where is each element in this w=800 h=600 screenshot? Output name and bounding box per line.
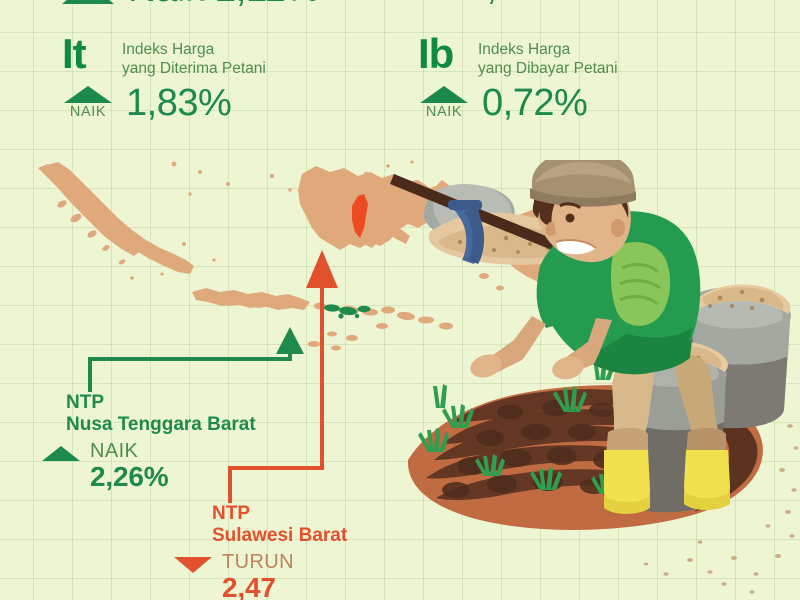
callout-ntb-title-line2: Nusa Tenggara Barat [66,414,256,436]
triangle-up-icon [64,86,112,103]
cut-stat-left-text: Naik 1,11% [128,0,320,6]
ib-code: Ib [418,36,464,72]
cut-stat-left: Naik 1,11% [62,0,320,6]
callout-ntb-title-line1: NTP [66,392,256,414]
stat-block-it: Naik 1,11% It Indeks Harga yang Diterima… [62,0,266,122]
ib-description-line2: yang Dibayar Petani [478,60,618,79]
callout-ntb-direction [42,440,80,461]
ib-description-line1: Indeks Harga [478,41,618,60]
callout-sulbar-direction [174,551,212,573]
it-direction: NAIK [62,86,114,120]
triangle-up-icon [42,446,80,461]
cut-stat-right: NAIK 1,59% [418,0,573,4]
callout-sulbar-title-line2: Sulawesi Barat [212,525,347,547]
ib-header-row: Ib Indeks Harga yang Dibayar Petani [418,36,618,78]
triangle-up-icon [420,86,468,103]
it-description-line1: Indeks Harga [122,41,266,60]
it-description-line2: yang Diterima Petani [122,60,266,79]
cut-stat-left-direction: Naik [128,0,204,6]
triangle-up-icon [62,0,114,4]
callout-ntb-direction-label: NAIK [90,440,168,462]
ib-direction: NAIK [418,86,470,120]
callout-ntb-value: 2,26% [90,462,168,492]
callout-ntb-value-row: NAIK 2,26% [42,440,256,492]
ib-description: Indeks Harga yang Dibayar Petani [478,36,618,78]
cut-stat-left-value: 1,11% [214,0,319,6]
callout-sulawesi-barat: NTP Sulawesi Barat TURUN 2,47 [212,503,347,600]
it-value-row: NAIK 1,83% [62,84,266,122]
it-description: Indeks Harga yang Diterima Petani [122,36,266,78]
callout-sulbar-value: 2,47 [222,573,294,600]
callout-ntb-title: NTP Nusa Tenggara Barat [66,392,256,436]
infographic-canvas: Naik 1,11% It Indeks Harga yang Diterima… [0,0,800,600]
cut-stat-right-value: 1,59% [465,0,573,4]
ib-direction-label: NAIK [426,104,462,120]
it-direction-label: NAIK [70,104,106,120]
callout-sulbar-value-row: TURUN 2,47 [174,551,347,600]
cut-stat-right-direction: NAIK [418,0,455,1]
it-value: 1,83% [126,84,231,122]
ib-value: 0,72% [482,84,587,122]
farmer-illustration [390,160,800,600]
ib-value-row: NAIK 0,72% [418,84,618,122]
callout-sulbar-title-line1: NTP [212,503,347,525]
stat-block-ib: NAIK 1,59% Ib Indeks Harga yang Dibayar … [418,0,618,122]
triangle-down-icon [174,557,212,573]
callout-sulbar-title: NTP Sulawesi Barat [212,503,347,547]
callout-sulbar-direction-label: TURUN [222,551,294,573]
callout-nusa-tenggara-barat: NTP Nusa Tenggara Barat NAIK 2,26% [66,392,256,492]
it-header-row: It Indeks Harga yang Diterima Petani [62,36,266,78]
it-code: It [62,36,108,72]
